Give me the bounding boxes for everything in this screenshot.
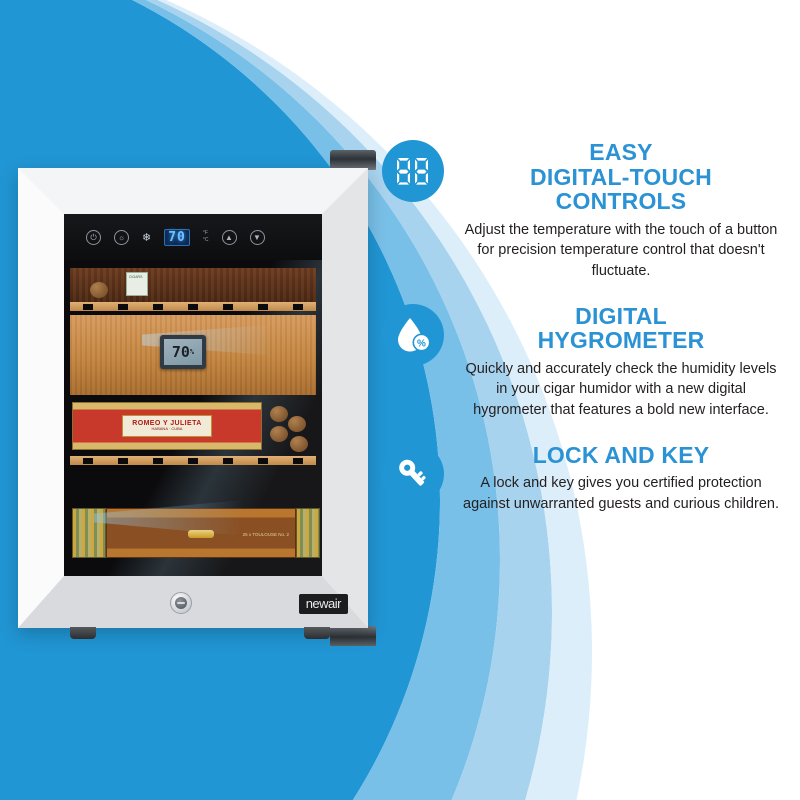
cigar-bundle-d — [290, 436, 308, 452]
feature-text-block: DIGITAL HYGROMETER Quickly and accuratel… — [458, 304, 790, 421]
brand-logo: newair — [299, 594, 348, 614]
shelf-slats-middle — [70, 456, 316, 465]
humidor-interior: CIGARS 70% ROMEO Y JULIETA — [64, 260, 322, 576]
feature-list: EASY DIGITAL-TOUCH CONTROLS Adjust the t… — [382, 140, 790, 536]
digital-hygrometer: 70% — [160, 335, 206, 369]
top-shelf-dark — [70, 268, 316, 302]
snowflake-icon: ❄ — [142, 231, 151, 244]
control-panel: ⏻ ☼ ❄ 70 °F °C ▲ ▼ — [64, 214, 322, 260]
feature-title-line: DIGITAL-TOUCH — [458, 165, 784, 190]
hygrometer-value: 70 — [172, 343, 190, 361]
feature-title-line: LOCK AND KEY — [458, 443, 784, 468]
unit-celsius: °C — [203, 237, 209, 245]
feature-item-lock-and-key: LOCK AND KEY A lock and key gives you ce… — [382, 443, 790, 515]
down-arrow-icon[interactable]: ▼ — [250, 230, 265, 245]
door-hinge-top — [330, 150, 376, 170]
svg-text:%: % — [417, 338, 426, 349]
key-icon — [382, 443, 444, 505]
product-image: ⏻ ☼ ❄ 70 °F °C ▲ ▼ CIGARS — [18, 168, 368, 628]
cigar-bundle-c — [270, 426, 288, 442]
wood-box-text: 25 x TOULOUSE No. 2 — [243, 532, 289, 537]
droplet-glyph: % — [395, 316, 431, 354]
humidity-droplet-icon: % — [382, 304, 444, 366]
cigar-bundle-b — [288, 416, 306, 432]
feature-title-line: CONTROLS — [458, 189, 784, 214]
light-icon[interactable]: ☼ — [114, 230, 129, 245]
temperature-unit-indicator: °F °C — [203, 230, 209, 245]
hygrometer-lcd: 70% — [164, 339, 202, 365]
cigar-box-romeo-y-julieta: ROMEO Y JULIETA HABANA · CUBA — [72, 402, 262, 450]
key-glyph — [395, 456, 431, 492]
seven-segment-glyph — [396, 156, 430, 186]
humidor-cabinet: ⏻ ☼ ❄ 70 °F °C ▲ ▼ CIGARS — [18, 168, 368, 628]
cabinet-foot-right — [304, 627, 330, 639]
seven-segment-display-icon — [382, 140, 444, 202]
cigar-box-label: ROMEO Y JULIETA HABANA · CUBA — [122, 415, 212, 437]
feature-title: LOCK AND KEY — [458, 443, 784, 468]
power-icon[interactable]: ⏻ — [86, 230, 101, 245]
feature-description: Quickly and accurately check the humidit… — [458, 359, 784, 421]
cigar-bundle-top — [90, 282, 108, 298]
door-lock[interactable] — [170, 592, 192, 614]
glass-door: ⏻ ☼ ❄ 70 °F °C ▲ ▼ CIGARS — [64, 214, 322, 576]
cigar-label-stamp: CIGARS — [126, 272, 148, 296]
feature-description: A lock and key gives you certified prote… — [458, 473, 784, 514]
feature-title-line: DIGITAL — [458, 304, 784, 329]
cigar-box-subtitle: HABANA · CUBA — [152, 427, 183, 431]
feature-title-line: EASY — [458, 140, 784, 165]
cigar-bundle-a — [270, 406, 288, 422]
shelf-slats-top — [70, 302, 316, 311]
door-hinge-bottom — [330, 626, 376, 646]
feature-item-digital-touch-controls: EASY DIGITAL-TOUCH CONTROLS Adjust the t… — [382, 140, 790, 282]
feature-text-block: LOCK AND KEY A lock and key gives you ce… — [458, 443, 790, 515]
feature-title: EASY DIGITAL-TOUCH CONTROLS — [458, 140, 784, 214]
temperature-display: 70 — [164, 229, 190, 246]
up-arrow-icon[interactable]: ▲ — [222, 230, 237, 245]
unit-fahrenheit: °F — [203, 230, 209, 238]
cabinet-foot-left — [70, 627, 96, 639]
feature-text-block: EASY DIGITAL-TOUCH CONTROLS Adjust the t… — [458, 140, 790, 282]
feature-item-digital-hygrometer: % DIGITAL HYGROMETER Quickly and accurat… — [382, 304, 790, 421]
feature-title-line: HYGROMETER — [458, 328, 784, 353]
feature-title: DIGITAL HYGROMETER — [458, 304, 784, 353]
feature-description: Adjust the temperature with the touch of… — [458, 220, 784, 282]
cigar-box-striped-right — [296, 508, 320, 558]
hygrometer-unit: % — [190, 348, 194, 356]
